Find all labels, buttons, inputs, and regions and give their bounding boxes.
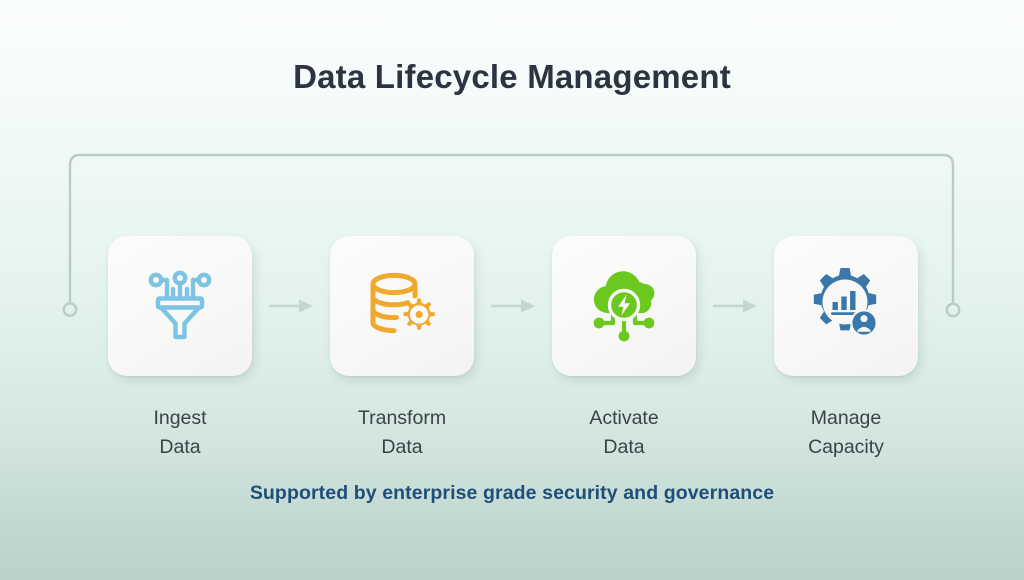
right-arrow-icon xyxy=(712,298,758,314)
gear-analytics-user-icon xyxy=(804,264,888,348)
step-label-ingest: Ingest Data xyxy=(153,404,206,462)
lifecycle-flow: Ingest Data xyxy=(108,236,918,446)
page-title: Data Lifecycle Management xyxy=(0,58,1024,96)
cloud-energy-network-icon xyxy=(583,265,665,347)
slide-canvas: Data Lifecycle Management xyxy=(0,0,1024,580)
step-manage-capacity[interactable]: Manage Capacity xyxy=(774,236,918,462)
step-label-manage: Manage Capacity xyxy=(808,404,884,462)
arrow-transform-to-activate xyxy=(482,236,544,376)
footer-note: Supported by enterprise grade security a… xyxy=(0,482,1024,505)
arrow-ingest-to-transform xyxy=(260,236,322,376)
loop-end-node-icon xyxy=(947,304,959,316)
step-card-transform[interactable] xyxy=(330,236,474,376)
database-gear-icon xyxy=(361,265,443,347)
step-label-activate: Activate Data xyxy=(589,404,658,462)
right-arrow-icon xyxy=(268,298,314,314)
step-activate-data[interactable]: Activate Data xyxy=(552,236,696,462)
right-arrow-icon xyxy=(490,298,536,314)
step-transform-data[interactable]: Transform Data xyxy=(330,236,474,462)
loop-start-node-icon xyxy=(64,303,76,315)
step-label-transform: Transform Data xyxy=(358,404,446,462)
step-card-activate[interactable] xyxy=(552,236,696,376)
step-card-manage[interactable] xyxy=(774,236,918,376)
user-head-shape xyxy=(861,315,868,322)
step-card-ingest[interactable] xyxy=(108,236,252,376)
gear-center-dot xyxy=(416,311,423,318)
data-funnel-icon xyxy=(139,265,221,347)
step-ingest-data[interactable]: Ingest Data xyxy=(108,236,252,462)
arrow-activate-to-manage xyxy=(704,236,766,376)
